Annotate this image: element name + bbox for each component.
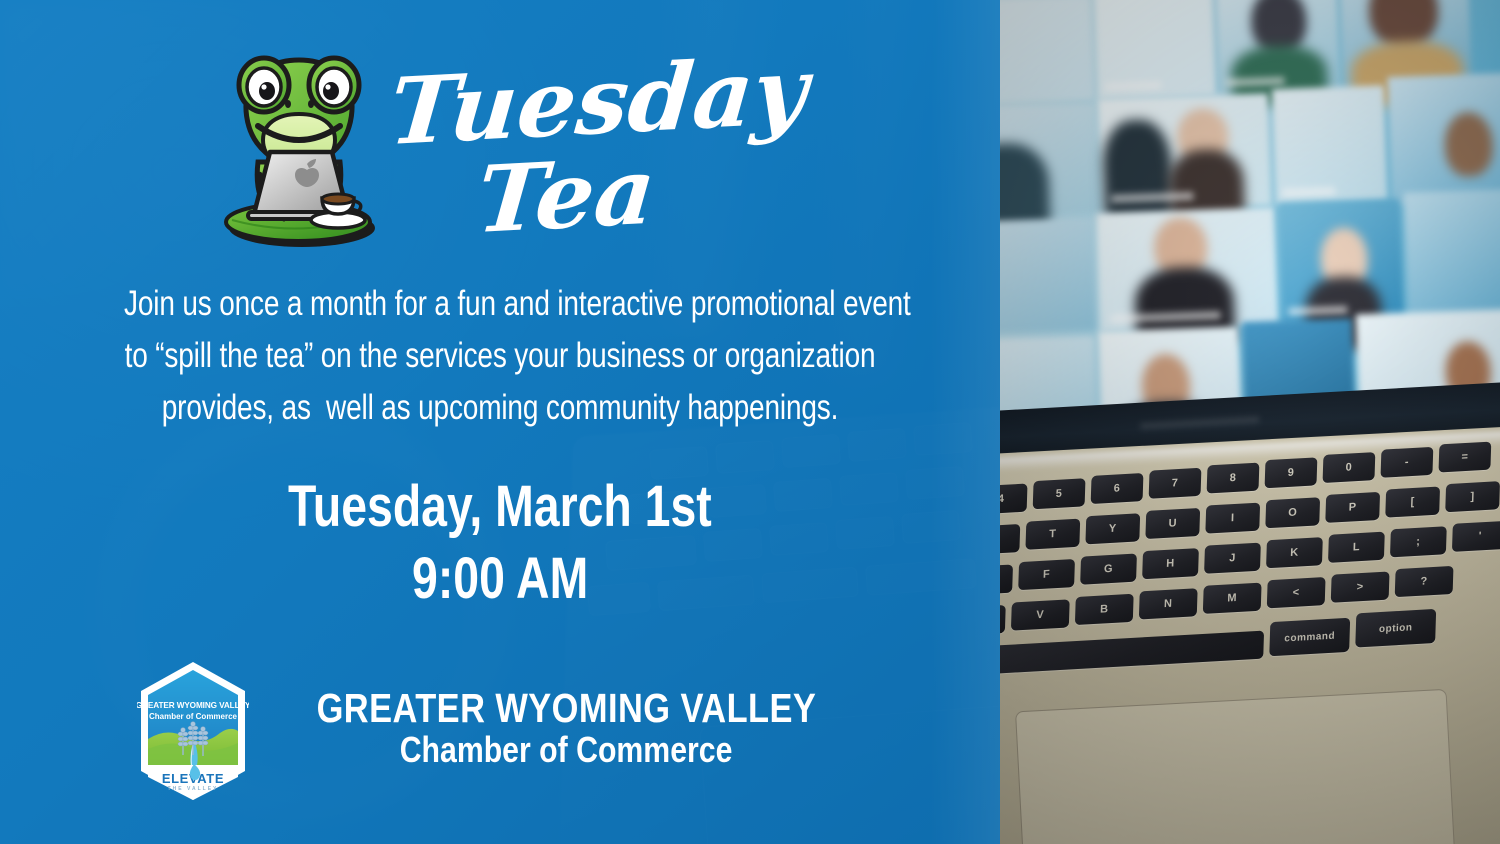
keyboard-key: L <box>1328 532 1385 563</box>
keyboard-key: 5 <box>1033 478 1086 509</box>
frog-with-laptop-and-teacup-icon <box>212 52 387 247</box>
laptop-screen <box>1000 0 1500 453</box>
event-time: 9:00 AM <box>0 548 1000 610</box>
keyboard-key: ' <box>1452 521 1500 552</box>
chamber-name-line1: GREATER WYOMING VALLEY <box>269 686 864 730</box>
event-date: Tuesday, March 1st <box>0 476 1000 538</box>
event-description: Join us once a month for a fun and inter… <box>30 278 970 434</box>
video-tile <box>1000 0 1094 104</box>
keyboard-key: C <box>1000 605 1006 636</box>
keyboard-key: M <box>1203 583 1262 614</box>
title-lockup: Tuesday Tea <box>0 46 1000 256</box>
event-date-text: Tuesday, March 1st <box>288 476 712 538</box>
description-line-3: provides, as well as upcoming community … <box>124 382 876 434</box>
keyboard-key: 6 <box>1091 473 1144 504</box>
keyboard-key: [ <box>1385 486 1440 517</box>
keyboard-key: 9 <box>1265 457 1318 488</box>
video-tile <box>1216 0 1340 95</box>
video-tile <box>1403 189 1500 321</box>
keyboard-key: 4 <box>1000 484 1028 515</box>
hexagon-shield-valley-badge-icon: GREATER WYOMING VALLEY Chamber of Commer… <box>137 661 249 801</box>
keyboard-key: B <box>1075 594 1134 625</box>
keyboard-key: > <box>1331 571 1390 602</box>
poster-content: Tuesday Tea Join us once a month for a f… <box>0 0 1000 844</box>
keyboard-key: T <box>1025 519 1080 550</box>
keyboard-key: J <box>1204 543 1261 574</box>
chamber-logo-lockup: GREATER WYOMING VALLEY Chamber of Commer… <box>0 656 1000 806</box>
badge-title-line1: GREATER WYOMING VALLEY <box>137 701 249 710</box>
description-line-2: to “spill the tea” on the services your … <box>124 330 876 382</box>
event-title: Tuesday Tea <box>393 46 788 246</box>
video-tile <box>1272 85 1388 205</box>
keyboard-key: H <box>1142 548 1199 579</box>
keyboard-key: P <box>1325 492 1380 523</box>
keyboard-key: O <box>1265 497 1320 528</box>
keyboard-key: V <box>1011 599 1070 630</box>
keyboard-key: I <box>1205 503 1260 534</box>
keyboard-key-option: option <box>1355 609 1436 648</box>
chamber-name-line2: Chamber of Commerce <box>269 730 864 770</box>
video-tile <box>1000 218 1096 334</box>
keyboard-key: ? <box>1395 566 1454 597</box>
video-tile <box>1278 199 1404 325</box>
chamber-name-line1-text: GREATER WYOMING VALLEY <box>316 686 816 730</box>
keyboard-key: Y <box>1085 513 1140 544</box>
keyboard-key: < <box>1267 577 1326 608</box>
keyboard-key: D <box>1000 564 1013 595</box>
badge-title-line2: Chamber of Commerce <box>149 712 238 721</box>
video-tile <box>1098 93 1272 211</box>
video-tile <box>1387 73 1500 205</box>
keyboard-key: 8 <box>1207 463 1260 494</box>
keyboard-key-spacebar <box>1000 631 1264 678</box>
keyboard-key: 7 <box>1149 468 1202 499</box>
keyboard-key: ; <box>1390 526 1447 557</box>
keyboard-key: F <box>1018 559 1075 590</box>
event-time-text: 9:00 AM <box>412 548 588 610</box>
keyboard-key: N <box>1139 588 1198 619</box>
poster-canvas: 4 5 6 7 8 9 0 - = R T Y U I O P [ ] D F … <box>0 0 1500 844</box>
chamber-name-line2-text: Chamber of Commerce <box>400 730 733 770</box>
keyboard-key: K <box>1266 537 1323 568</box>
event-title-line2: Tea <box>473 136 660 254</box>
description-line-1: Join us once a month for a fun and inter… <box>124 278 876 330</box>
badge-subtagline: THE VALLEY <box>167 786 218 792</box>
laptop-keyboard: 4 5 6 7 8 9 0 - = R T Y U I O P [ ] D F … <box>1000 453 1500 685</box>
keyboard-key: = <box>1438 442 1491 473</box>
keyboard-key: R <box>1000 524 1020 555</box>
laptop-trackpad <box>1015 689 1457 844</box>
chamber-name: GREATER WYOMING VALLEY Chamber of Commer… <box>269 686 864 776</box>
keyboard-key: 0 <box>1323 452 1376 483</box>
keyboard-key: G <box>1080 554 1137 585</box>
video-tile <box>1096 207 1278 331</box>
laptop-video-conference-photo: 4 5 6 7 8 9 0 - = R T Y U I O P [ ] D F … <box>1000 0 1500 844</box>
keyboard-key: ] <box>1445 481 1500 512</box>
keyboard-key: - <box>1381 447 1434 478</box>
video-tile <box>1094 0 1216 99</box>
video-tile <box>1000 103 1098 217</box>
video-call-tile-grid <box>1000 0 1500 448</box>
keyboard-key-command: command <box>1269 618 1350 657</box>
keyboard-key: U <box>1145 508 1200 539</box>
